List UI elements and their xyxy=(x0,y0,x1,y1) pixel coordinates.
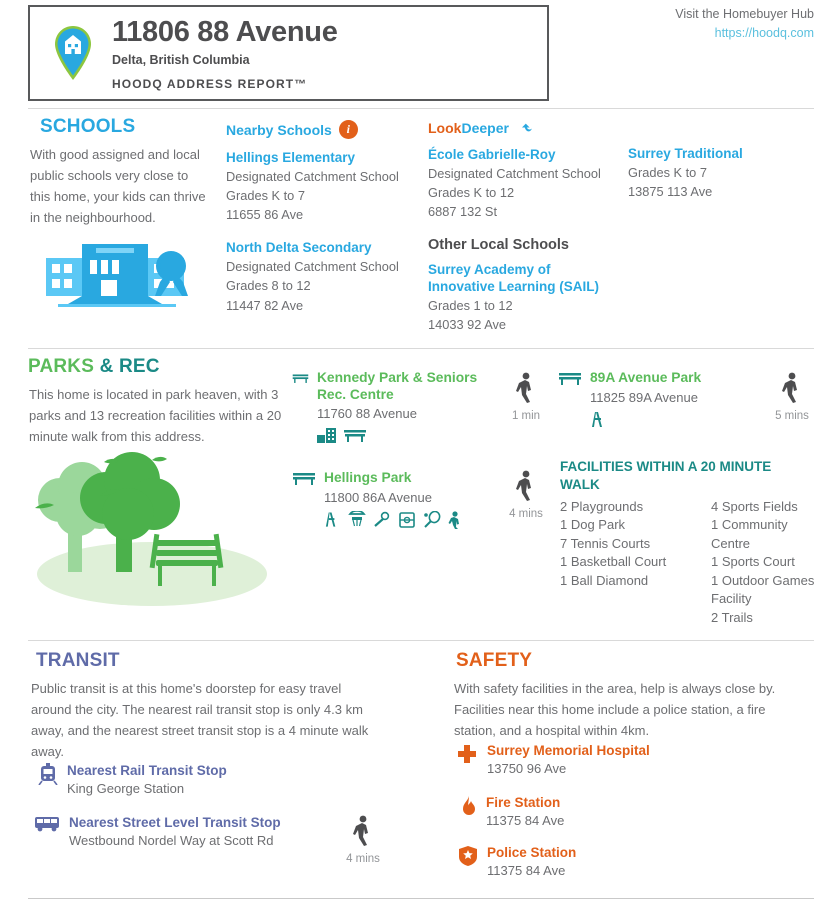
sports-field-icon xyxy=(398,511,416,529)
facility-item: 2 Playgrounds xyxy=(560,498,675,516)
facility-item: 1 Community Centre xyxy=(711,516,826,553)
walk-time-label: 4 mins xyxy=(497,508,555,520)
safety-facility-address: 11375 84 Ave xyxy=(487,863,576,878)
community-centre-icon xyxy=(317,427,337,443)
park-entry: 89A Avenue Park 11825 89A Avenue xyxy=(558,370,748,429)
school-name[interactable]: Hellings Elementary xyxy=(226,150,416,167)
walking-person-icon xyxy=(513,372,539,404)
facility-item: 1 Basketball Court xyxy=(560,553,675,571)
school-type: Designated Catchment School xyxy=(428,165,620,183)
tennis-racquet-icon xyxy=(423,511,441,529)
facilities-column-left: 2 Playgrounds 1 Dog Park 7 Tennis Courts… xyxy=(560,498,675,627)
arrow-down-icon xyxy=(519,120,533,135)
school-grades: Grades K to 7 xyxy=(226,187,416,205)
walk-time: 5 mins xyxy=(763,372,821,422)
hoodq-address-report: 11806 88 Avenue Delta, British Columbia … xyxy=(0,0,836,911)
park-address: 11800 86A Avenue xyxy=(324,490,462,505)
school-entry: École Gabrielle-Roy Designated Catchment… xyxy=(428,147,620,221)
hoodq-link[interactable]: https://hoodq.com xyxy=(715,26,814,40)
transit-entry: Nearest Street Level Transit Stop Westbo… xyxy=(34,815,281,848)
park-name[interactable]: Kennedy Park & Seniors Rec. Centre xyxy=(317,370,487,403)
facilities-lists: 2 Playgrounds 1 Dog Park 7 Tennis Courts… xyxy=(560,498,826,627)
school-grades: Grades 8 to 12 xyxy=(226,277,416,295)
map-pin-home-icon xyxy=(52,25,94,81)
park-address: 11760 88 Avenue xyxy=(317,406,487,421)
school-address: 11655 86 Ave xyxy=(226,206,416,224)
school-address: 6887 132 St xyxy=(428,203,620,221)
facilities-title: FACILITIES WITHIN A 20 MINUTE WALK xyxy=(560,458,790,493)
walk-time: 4 mins xyxy=(334,815,392,865)
transit-divider xyxy=(28,640,814,641)
transit-stop-label[interactable]: Nearest Rail Transit Stop xyxy=(67,763,227,779)
safety-title: SAFETY xyxy=(456,650,532,672)
nearby-schools-header: Nearby Schools i xyxy=(226,120,416,139)
page-title: 11806 88 Avenue xyxy=(112,17,338,48)
park-trees-bench-illustration xyxy=(30,452,280,612)
schools-title: SCHOOLS xyxy=(40,116,135,138)
walk-time-label: 5 mins xyxy=(763,410,821,422)
basketball-hoop-icon xyxy=(348,511,366,529)
park-name[interactable]: 89A Avenue Park xyxy=(590,370,701,387)
park-address: 11825 89A Avenue xyxy=(590,390,701,405)
safety-facility-label[interactable]: Surrey Memorial Hospital xyxy=(487,743,650,759)
facilities-column-right: 4 Sports Fields 1 Community Centre 1 Spo… xyxy=(711,498,826,627)
hub-label: Visit the Homebuyer Hub xyxy=(675,5,814,24)
ball-diamond-icon xyxy=(373,511,391,529)
transit-stop-label[interactable]: Nearest Street Level Transit Stop xyxy=(69,815,281,831)
parks-rec-section: PARKS & REC This home is located in park… xyxy=(0,348,836,636)
medical-cross-icon xyxy=(456,743,478,765)
school-type: Designated Catchment School xyxy=(226,258,416,276)
picnic-table-icon xyxy=(344,427,366,443)
walk-time-label: 4 mins xyxy=(334,853,392,865)
facility-item: 2 Trails xyxy=(711,609,826,627)
park-bench-icon xyxy=(292,470,316,486)
school-grades: Grades K to 7 xyxy=(628,164,818,182)
parks-title-rec: & REC xyxy=(100,356,160,377)
safety-entry: Police Station 11375 84 Ave xyxy=(458,845,576,878)
facility-item: 4 Sports Fields xyxy=(711,498,826,516)
school-address: 13875 113 Ave xyxy=(628,183,818,201)
parks-title-parks: PARKS xyxy=(28,356,94,377)
school-building-illustration xyxy=(38,236,198,308)
facility-item: 7 Tennis Courts xyxy=(560,535,675,553)
playground-slide-icon xyxy=(324,511,341,529)
facility-item: 1 Outdoor Games Facility xyxy=(711,572,826,609)
walking-person-icon xyxy=(513,470,539,502)
flame-icon xyxy=(461,795,477,817)
school-entry: Surrey Traditional Grades K to 7 13875 1… xyxy=(628,146,818,201)
school-address: 14033 92 Ave xyxy=(428,316,620,334)
running-person-icon xyxy=(448,511,462,529)
nearby-schools-label: Nearby Schools xyxy=(226,122,332,138)
footer-divider xyxy=(28,898,814,899)
safety-facility-label[interactable]: Police Station xyxy=(487,845,576,861)
homebuyer-hub: Visit the Homebuyer Hub https://hoodq.co… xyxy=(675,5,814,44)
lookdeeper-look: Look xyxy=(428,120,461,136)
lookdeeper-header[interactable]: LookDeeper xyxy=(428,120,620,136)
nearby-schools-column: Nearby Schools i Hellings Elementary Des… xyxy=(226,120,416,331)
transit-description: Public transit is at this home's doorste… xyxy=(31,678,376,762)
school-name[interactable]: Surrey Academy of Innovative Learning (S… xyxy=(428,262,620,296)
address-city: Delta, British Columbia xyxy=(112,53,338,67)
walk-time-label: 1 min xyxy=(497,410,555,422)
facility-item: 1 Dog Park xyxy=(560,516,675,534)
parks-description: This home is located in park heaven, wit… xyxy=(29,384,291,447)
park-bench-icon xyxy=(558,370,582,386)
report-header: 11806 88 Avenue Delta, British Columbia … xyxy=(0,0,836,105)
walk-time: 4 mins xyxy=(497,470,555,520)
school-name[interactable]: École Gabrielle-Roy xyxy=(428,147,620,164)
walk-time: 1 min xyxy=(497,372,555,422)
school-type: Designated Catchment School xyxy=(226,168,416,186)
info-icon[interactable]: i xyxy=(339,120,358,139)
safety-facility-address: 11375 84 Ave xyxy=(486,813,564,828)
school-grades: Grades K to 12 xyxy=(428,184,620,202)
park-name[interactable]: Hellings Park xyxy=(324,470,462,487)
schools-description: With good assigned and local public scho… xyxy=(30,144,206,228)
safety-entry: Fire Station 11375 84 Ave xyxy=(461,795,564,828)
lookdeeper-deeper: Deeper xyxy=(461,120,508,136)
park-entry: Hellings Park 11800 86A Avenue xyxy=(292,470,502,529)
transit-title: TRANSIT xyxy=(36,650,120,672)
walking-person-icon xyxy=(779,372,805,404)
safety-entry: Surrey Memorial Hospital 13750 96 Ave xyxy=(456,743,650,776)
bus-icon xyxy=(34,815,60,833)
school-name[interactable]: Surrey Traditional xyxy=(628,146,818,163)
safety-description: With safety facilities in the area, help… xyxy=(454,678,799,741)
train-icon xyxy=(38,763,58,785)
transit-entry: Nearest Rail Transit Stop King George St… xyxy=(38,763,227,796)
park-amenities xyxy=(590,411,701,429)
school-address: 11447 82 Ave xyxy=(226,297,416,315)
lookdeeper-column: LookDeeper École Gabrielle-Roy Designate… xyxy=(428,120,620,350)
school-name[interactable]: North Delta Secondary xyxy=(226,240,416,257)
playground-slide-icon xyxy=(590,411,608,429)
park-entry: Kennedy Park & Seniors Rec. Centre 11760… xyxy=(292,370,487,443)
safety-facility-address: 13750 96 Ave xyxy=(487,761,650,776)
park-amenities xyxy=(317,427,487,443)
police-shield-icon xyxy=(458,845,478,867)
safety-facility-label[interactable]: Fire Station xyxy=(486,795,564,811)
park-amenities xyxy=(324,511,462,529)
school-grades: Grades 1 to 12 xyxy=(428,297,620,315)
park-bench-icon xyxy=(292,370,309,386)
school-entry: Hellings Elementary Designated Catchment… xyxy=(226,150,416,224)
lookdeeper-column-right: Surrey Traditional Grades K to 7 13875 1… xyxy=(628,146,818,217)
school-entry: Surrey Academy of Innovative Learning (S… xyxy=(428,262,620,334)
school-entry: North Delta Secondary Designated Catchme… xyxy=(226,240,416,314)
transit-stop-value: King George Station xyxy=(67,781,227,796)
facility-item: 1 Ball Diamond xyxy=(560,572,675,590)
schools-section: SCHOOLS With good assigned and local pub… xyxy=(0,108,836,336)
transit-stop-value: Westbound Nordel Way at Scott Rd xyxy=(69,833,281,848)
address-box: 11806 88 Avenue Delta, British Columbia … xyxy=(28,5,549,101)
report-type-label: HOODQ ADDRESS REPORT™ xyxy=(112,77,338,91)
facility-item: 1 Sports Court xyxy=(711,553,826,571)
other-local-schools-label: Other Local Schools xyxy=(428,237,620,253)
walking-person-icon xyxy=(350,815,376,847)
parks-title: PARKS & REC xyxy=(28,356,160,378)
